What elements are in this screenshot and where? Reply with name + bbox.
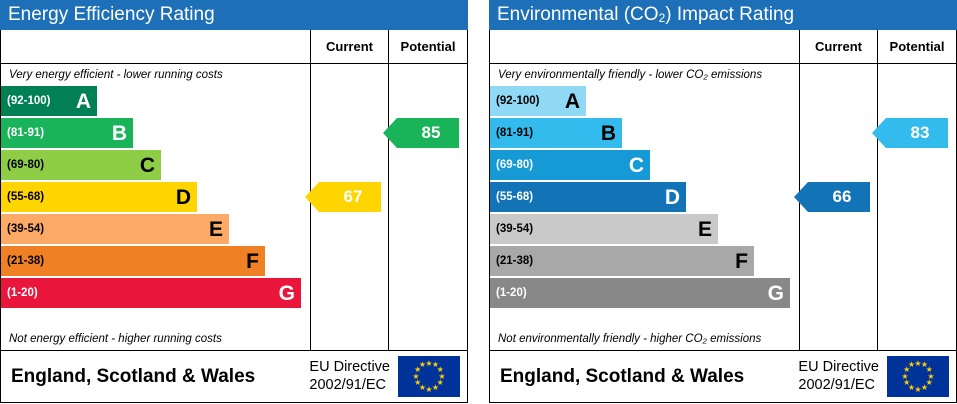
header-spacer [1, 30, 311, 63]
co2-band-d-range: (55-68) [496, 191, 533, 203]
energy-footer-directive: EU Directive 2002/91/EC [309, 359, 398, 394]
co2-band-a-letter: A [565, 91, 580, 112]
energy-efficiency-title-text: Energy Efficiency Rating [8, 4, 215, 26]
co2-title-prefix: Environmental (CO [497, 4, 659, 26]
band-a-letter: A [76, 91, 91, 112]
co2-footer-directive: EU Directive 2002/91/EC [798, 359, 887, 394]
band-e-range: (39-54) [7, 223, 44, 235]
band-b-range: (81-91) [7, 127, 44, 139]
co2-header-spacer [490, 30, 800, 63]
band-g: (1-20) G [1, 278, 301, 308]
energy-efficiency-body: Current Potential Very energy efficient … [0, 30, 468, 403]
band-f: (21-38) F [1, 246, 265, 276]
band-f-range: (21-38) [7, 255, 44, 267]
co2-current-column: 66 [800, 64, 878, 350]
energy-potential-arrow-icon [383, 118, 397, 148]
co2-band-d: (55-68) D [490, 182, 686, 212]
energy-efficiency-header-row: Current Potential [1, 30, 467, 64]
eu-flag-icon: ★★★★★★★★★★★★ [398, 356, 460, 397]
co2-band-c-letter: C [629, 155, 644, 176]
energy-directive-line1: EU Directive [309, 359, 390, 376]
co2-band-e-letter: E [698, 219, 712, 240]
co2-header-current: Current [800, 30, 878, 63]
co2-band-g-letter: G [768, 283, 784, 304]
energy-potential-value: 85 [416, 123, 441, 143]
co2-bottom-note: Not environmentally friendly - higher CO… [490, 328, 761, 348]
co2-band-g: (1-20) G [490, 278, 790, 308]
band-c-letter: C [140, 155, 155, 176]
band-c-range: (69-80) [7, 159, 44, 171]
energy-bottom-note: Not energy efficient - higher running co… [1, 328, 222, 348]
co2-band-f-range: (21-38) [496, 255, 533, 267]
band-b-letter: B [112, 123, 127, 144]
co2-potential-arrow-icon [872, 118, 886, 148]
header-potential: Potential [389, 30, 467, 63]
co2-impact-title: Environmental (CO2) Impact Rating [489, 0, 957, 30]
co2-band-b-letter: B [601, 123, 616, 144]
co2-potential-marker: 83 [886, 118, 948, 148]
energy-potential-marker: 85 [397, 118, 459, 148]
eu-star-icon: ★ [908, 361, 916, 369]
header-current: Current [311, 30, 389, 63]
co2-potential-value: 83 [905, 123, 930, 143]
co2-impact-panel: Environmental (CO2) Impact Rating Curren… [489, 0, 957, 404]
co2-footer: England, Scotland & Wales EU Directive 2… [490, 351, 956, 402]
energy-potential-column: 85 [389, 64, 467, 350]
energy-efficiency-chart: Very energy efficient - lower running co… [1, 64, 467, 351]
co2-band-a: (92-100) A [490, 86, 586, 116]
energy-bands-area: Very energy efficient - lower running co… [1, 64, 311, 350]
co2-potential-column: 83 [878, 64, 956, 350]
co2-chart: Very environmentally friendly - lower CO… [490, 64, 956, 351]
co2-directive-line2: 2002/91/EC [798, 377, 879, 394]
co2-title-subscript: 2 [659, 11, 666, 25]
co2-band-list: (92-100) A (81-91) B (69-80) C (55-68) [490, 86, 799, 310]
band-d-letter: D [176, 187, 191, 208]
energy-current-column: 67 [311, 64, 389, 350]
band-c: (69-80) C [1, 150, 161, 180]
co2-top-note: Very environmentally friendly - lower CO… [490, 64, 799, 84]
energy-current-arrow-icon [305, 182, 319, 212]
co2-title-suffix: ) Impact Rating [665, 4, 794, 26]
band-g-range: (1-20) [7, 287, 38, 299]
band-g-letter: G [279, 283, 295, 304]
co2-footer-region: England, Scotland & Wales [490, 366, 798, 388]
co2-bands-area: Very environmentally friendly - lower CO… [490, 64, 800, 350]
co2-band-c: (69-80) C [490, 150, 650, 180]
co2-band-b-range: (81-91) [496, 127, 533, 139]
band-d: (55-68) D [1, 182, 197, 212]
co2-header-potential: Potential [878, 30, 956, 63]
co2-band-g-range: (1-20) [496, 287, 527, 299]
co2-band-e: (39-54) E [490, 214, 718, 244]
energy-efficiency-panel: Energy Efficiency Rating Current Potenti… [0, 0, 468, 404]
energy-footer: England, Scotland & Wales EU Directive 2… [1, 351, 467, 402]
co2-band-a-range: (92-100) [496, 95, 539, 107]
band-d-range: (55-68) [7, 191, 44, 203]
band-f-letter: F [246, 251, 259, 272]
co2-header-row: Current Potential [490, 30, 956, 64]
co2-band-f-letter: F [735, 251, 748, 272]
eu-star-icon: ★ [419, 361, 427, 369]
band-e-letter: E [209, 219, 223, 240]
energy-current-marker: 67 [319, 182, 381, 212]
co2-band-c-range: (69-80) [496, 159, 533, 171]
energy-directive-line2: 2002/91/EC [309, 377, 390, 394]
co2-band-b: (81-91) B [490, 118, 622, 148]
eu-flag-icon-2: ★★★★★★★★★★★★ [887, 356, 949, 397]
energy-current-value: 67 [338, 187, 363, 207]
co2-current-marker: 66 [808, 182, 870, 212]
energy-footer-region: England, Scotland & Wales [1, 366, 309, 388]
co2-band-e-range: (39-54) [496, 223, 533, 235]
energy-band-list: (92-100) A (81-91) B (69-80) C (55-68) [1, 86, 310, 310]
co2-current-value: 66 [827, 187, 852, 207]
co2-impact-body: Current Potential Very environmentally f… [489, 30, 957, 403]
co2-current-arrow-icon [794, 182, 808, 212]
band-a-range: (92-100) [7, 95, 50, 107]
energy-top-note: Very energy efficient - lower running co… [1, 64, 310, 84]
energy-efficiency-title: Energy Efficiency Rating [0, 0, 468, 30]
co2-band-d-letter: D [665, 187, 680, 208]
band-a: (92-100) A [1, 86, 97, 116]
co2-band-f: (21-38) F [490, 246, 754, 276]
band-e: (39-54) E [1, 214, 229, 244]
band-b: (81-91) B [1, 118, 133, 148]
epc-charts-container: Energy Efficiency Rating Current Potenti… [0, 0, 957, 404]
co2-directive-line1: EU Directive [798, 359, 879, 376]
